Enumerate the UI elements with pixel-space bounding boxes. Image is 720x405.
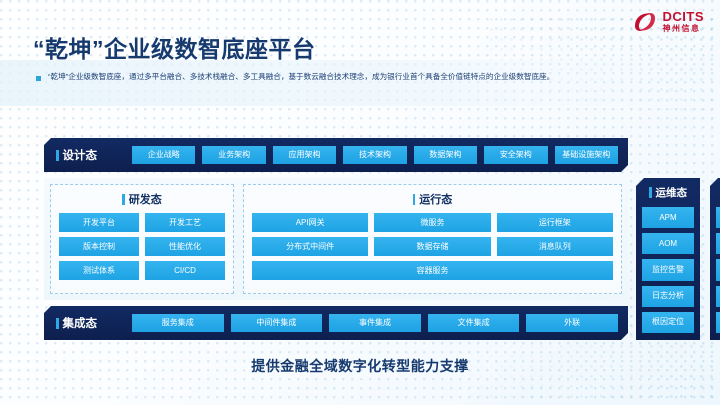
- dev-state-panel: 研发态 开发平台 开发工艺 版本控制 性能优化 测试体系 CI/CD: [50, 184, 234, 294]
- tile-ops-1[interactable]: AOM: [642, 233, 694, 254]
- tile-dev-2-0[interactable]: 测试体系: [59, 261, 139, 280]
- subtitle-row: “乾坤”企业级数智底座，通过多平台融合、多技术栈融合、多工具融合，基于数云融合技…: [36, 72, 554, 82]
- tile-dev-1-1[interactable]: 性能优化: [145, 237, 225, 256]
- integration-state-title: 集成态: [56, 315, 124, 331]
- footer-caption: 提供金融全域数字化转型能力支撑: [0, 356, 720, 376]
- tile-dr-1[interactable]: 异地多活: [716, 233, 720, 254]
- brand-logo: DCITS 神州信息: [632, 10, 705, 33]
- tile-dev-0-0[interactable]: 开发平台: [59, 213, 139, 232]
- design-state-title: 设计态: [56, 147, 124, 163]
- tile-dev-0-1[interactable]: 开发工艺: [145, 213, 225, 232]
- tile-dr-2[interactable]: 故障切换: [716, 259, 720, 280]
- brand-logo-text: DCITS 神州信息: [663, 10, 705, 33]
- subtitle-band: [0, 60, 720, 106]
- tile-ops-2[interactable]: 监控告警: [642, 259, 694, 280]
- tile-run-0-2[interactable]: 运行框架: [497, 213, 613, 232]
- dev-row-2: 测试体系 CI/CD: [59, 261, 225, 280]
- run-row-0: API网关 微服务 运行框架: [252, 213, 613, 232]
- run-state-panel: 运行态 API网关 微服务 运行框架 分布式中间件 数据存储 消息队列 容器服务: [243, 184, 622, 294]
- slide-canvas: DCITS 神州信息 “乾坤”企业级数智底座平台 “乾坤”企业级数智底座，通过多…: [0, 0, 720, 405]
- run-row-1: 分布式中间件 数据存储 消息队列: [252, 237, 613, 256]
- chip-integration-4[interactable]: 外联: [526, 314, 618, 332]
- tile-dr-4[interactable]: 容灾演练: [716, 312, 720, 333]
- integration-state-row: 集成态 服务集成 中间件集成 事件集成 文件集成 外联: [44, 306, 628, 340]
- middle-section: 研发态 开发平台 开发工艺 版本控制 性能优化 测试体系 CI/CD: [44, 178, 628, 300]
- dev-row-0: 开发平台 开发工艺: [59, 213, 225, 232]
- chip-design-6[interactable]: 基础设施架构: [555, 146, 618, 164]
- design-state-chips: 企业战略 业务架构 应用架构 技术架构 数据架构 安全架构 基础设施架构: [132, 146, 618, 164]
- chip-design-2[interactable]: 应用架构: [273, 146, 336, 164]
- chip-design-3[interactable]: 技术架构: [343, 146, 406, 164]
- tile-run-2-0[interactable]: 容器服务: [252, 261, 613, 280]
- tick-marker-icon: [56, 150, 59, 161]
- chip-integration-3[interactable]: 文件集成: [428, 314, 520, 332]
- tile-dr-3[interactable]: 流量调拨: [716, 286, 720, 307]
- tile-dev-1-0[interactable]: 版本控制: [59, 237, 139, 256]
- page-subtitle: “乾坤”企业级数智底座，通过多平台融合、多技术栈融合、多工具融合，基于数云融合技…: [48, 72, 554, 82]
- platform-architecture-diagram: 设计态 企业战略 业务架构 应用架构 技术架构 数据架构 安全架构 基础设施架构…: [44, 138, 680, 338]
- chip-integration-2[interactable]: 事件集成: [329, 314, 421, 332]
- tile-run-1-2[interactable]: 消息队列: [497, 237, 613, 256]
- dr-state-column: 灾备态 同城双活 异地多活 故障切换 流量调拨 容灾演练: [710, 178, 720, 340]
- dev-state-grid: 开发平台 开发工艺 版本控制 性能优化 测试体系 CI/CD: [59, 213, 225, 287]
- bullet-icon: [36, 76, 41, 81]
- tick-marker-icon: [649, 187, 652, 198]
- brand-logo-cn: 神州信息: [663, 25, 705, 33]
- tile-run-1-0[interactable]: 分布式中间件: [252, 237, 368, 256]
- brand-logo-en: DCITS: [663, 10, 705, 23]
- tile-run-0-0[interactable]: API网关: [252, 213, 368, 232]
- tile-run-1-1[interactable]: 数据存储: [374, 237, 490, 256]
- dev-row-1: 版本控制 性能优化: [59, 237, 225, 256]
- tile-dr-0[interactable]: 同城双活: [716, 207, 720, 228]
- ops-state-title: 运维态: [649, 185, 687, 200]
- dev-state-title: 研发态: [59, 191, 225, 207]
- page-title: “乾坤”企业级数智底座平台: [33, 30, 316, 64]
- tile-ops-0[interactable]: APM: [642, 207, 694, 228]
- chip-design-0[interactable]: 企业战略: [132, 146, 195, 164]
- design-state-row: 设计态 企业战略 业务架构 应用架构 技术架构 数据架构 安全架构 基础设施架构: [44, 138, 628, 172]
- chip-design-4[interactable]: 数据架构: [414, 146, 477, 164]
- dcits-swirl-logo-icon: [632, 11, 658, 33]
- integration-state-label: 集成态: [63, 315, 98, 331]
- dev-state-label: 研发态: [129, 191, 162, 207]
- tile-run-0-1[interactable]: 微服务: [374, 213, 490, 232]
- run-state-label: 运行态: [419, 191, 452, 207]
- tile-ops-3[interactable]: 日志分析: [642, 286, 694, 307]
- tick-marker-icon: [56, 318, 59, 329]
- chip-design-1[interactable]: 业务架构: [202, 146, 265, 164]
- ops-state-column: 运维态 APM AOM 监控告警 日志分析 根因定位: [636, 178, 700, 340]
- chip-integration-0[interactable]: 服务集成: [132, 314, 224, 332]
- tick-marker-icon: [413, 194, 416, 205]
- integration-state-chips: 服务集成 中间件集成 事件集成 文件集成 外联: [132, 314, 618, 332]
- chip-design-5[interactable]: 安全架构: [484, 146, 547, 164]
- tile-ops-4[interactable]: 根因定位: [642, 312, 694, 333]
- tick-marker-icon: [122, 194, 125, 205]
- run-state-grid: API网关 微服务 运行框架 分布式中间件 数据存储 消息队列 容器服务: [252, 213, 613, 287]
- run-state-title: 运行态: [252, 191, 613, 207]
- chip-integration-1[interactable]: 中间件集成: [231, 314, 323, 332]
- design-state-label: 设计态: [63, 147, 98, 163]
- ops-state-label: 运维态: [656, 185, 688, 200]
- run-row-2: 容器服务: [252, 261, 613, 280]
- tile-dev-2-1[interactable]: CI/CD: [145, 261, 225, 280]
